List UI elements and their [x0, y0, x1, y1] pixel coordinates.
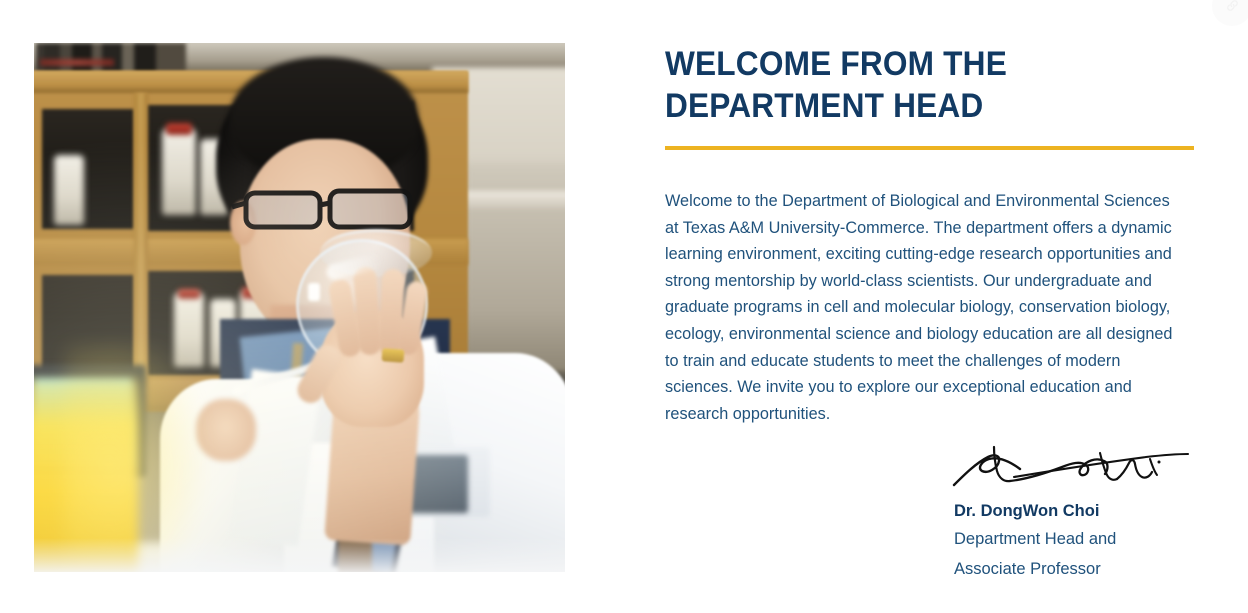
welcome-paragraph: Welcome to the Department of Biological … [665, 150, 1187, 427]
permalink-anchor-button[interactable] [1212, 0, 1248, 26]
laboratory-photo [34, 43, 565, 572]
welcome-section: WELCOME FROM THE DEPARTMENT HEAD Welcome… [0, 0, 1248, 613]
welcome-text-column: WELCOME FROM THE DEPARTMENT HEAD Welcome… [665, 43, 1195, 584]
signature-name: Dr. DongWon Choi [954, 498, 1195, 524]
signature-title-line-1: Department Head and [954, 524, 1195, 554]
signature-block: Dr. DongWon Choi Department Head and Ass… [665, 441, 1195, 584]
link-chain-icon [1225, 0, 1240, 13]
department-head-photo [34, 43, 565, 572]
signature-title-line-2: Associate Professor [954, 554, 1195, 584]
handwritten-signature-icon [950, 441, 1195, 494]
page-title: WELCOME FROM THE DEPARTMENT HEAD [665, 43, 1158, 127]
